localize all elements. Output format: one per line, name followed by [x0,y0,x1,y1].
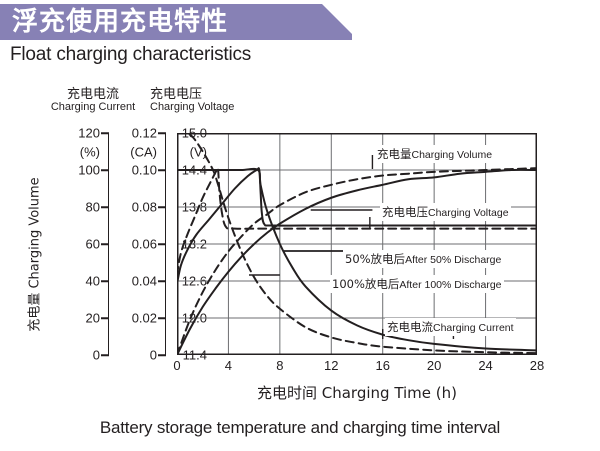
footer-caption: Battery storage temperature and charging… [0,418,600,438]
annotation-after-100-cn: 100%放电后 [332,277,399,291]
annotation-charging-volume: 充电量Charging Volume [375,145,494,163]
x-tick: 0 [173,358,180,373]
x-tick: 28 [530,358,544,373]
axis-header-current-en: Charging Current [34,102,152,114]
tick-charging-volume: 80 [86,200,100,215]
annotation-charging-volume-en: Charging Volume [412,149,493,161]
tick-charging-volume: 0 [93,348,100,363]
tick-charging-current: 0.04 [132,274,157,289]
axis-unit-charging-volume: (%) [80,144,100,159]
x-tick: 24 [478,358,492,373]
axis-header-voltage: 充电电压 Charging Voltage [150,88,282,113]
x-tick: 4 [225,358,232,373]
annotation-after-50-discharge: 50%放电后After 50% Discharge [343,250,503,268]
annotation-after-50-en: After 50% Discharge [405,254,501,266]
tick-charging-current: 0.10 [132,163,157,178]
x-tick: 12 [324,358,338,373]
axis-header-voltage-en: Charging Voltage [150,102,282,114]
annotation-charging-current-en: Charging Current [433,322,514,334]
tick-charging-volume: 100 [78,163,100,178]
axis-header-current: 充电电流 Charging Current [34,88,152,113]
x-axis-title: 充电时间 Charging Time (h) [177,382,537,403]
tick-charging-current: 0.08 [132,200,157,215]
tick-charging-current: 0.06 [132,237,157,252]
annotation-charging-voltage-en: Charging Voltage [428,207,509,219]
tick-charging-volume: 60 [86,237,100,252]
axis-spine [165,133,167,355]
axis-spine [108,133,110,355]
axis-header-voltage-cn: 充电电压 [150,88,282,102]
tick-charging-current: 0.12 [132,126,157,141]
tick-charging-volume: 120 [78,126,100,141]
chart-page: 浮充使用充电特性 Float charging characteristics … [0,0,600,451]
annotation-after-100-discharge: 100%放电后After 100% Discharge [330,275,504,293]
tick-charging-volume: 20 [86,311,100,326]
page-title-en: Float charging characteristics [10,44,251,66]
x-tick: 16 [375,358,389,373]
axis-unit-charging-current: (CA) [130,144,157,159]
annotation-after-100-en: After 100% Discharge [399,279,501,291]
annotation-charging-voltage: 充电电压Charging Voltage [380,203,511,221]
annotation-charging-voltage-cn: 充电电压 [382,205,428,219]
annotation-charging-current: 充电电流Charging Current [385,318,516,336]
annotation-after-50-cn: 50%放电后 [345,252,405,266]
y-axis-title: 充电量 Charging Volume [24,160,43,350]
tick-charging-volume: 40 [86,274,100,289]
annotation-charging-current-cn: 充电电流 [387,320,433,334]
tick-charging-current: 0.02 [132,311,157,326]
x-tick: 8 [276,358,283,373]
annotation-charging-volume-cn: 充电量 [377,147,412,161]
tick-charging-current: 0 [150,348,157,363]
title-banner: 浮充使用充电特性 [0,4,352,40]
axis-header-current-cn: 充电电流 [34,88,152,102]
page-title-cn: 浮充使用充电特性 [12,5,228,39]
x-tick: 20 [427,358,441,373]
